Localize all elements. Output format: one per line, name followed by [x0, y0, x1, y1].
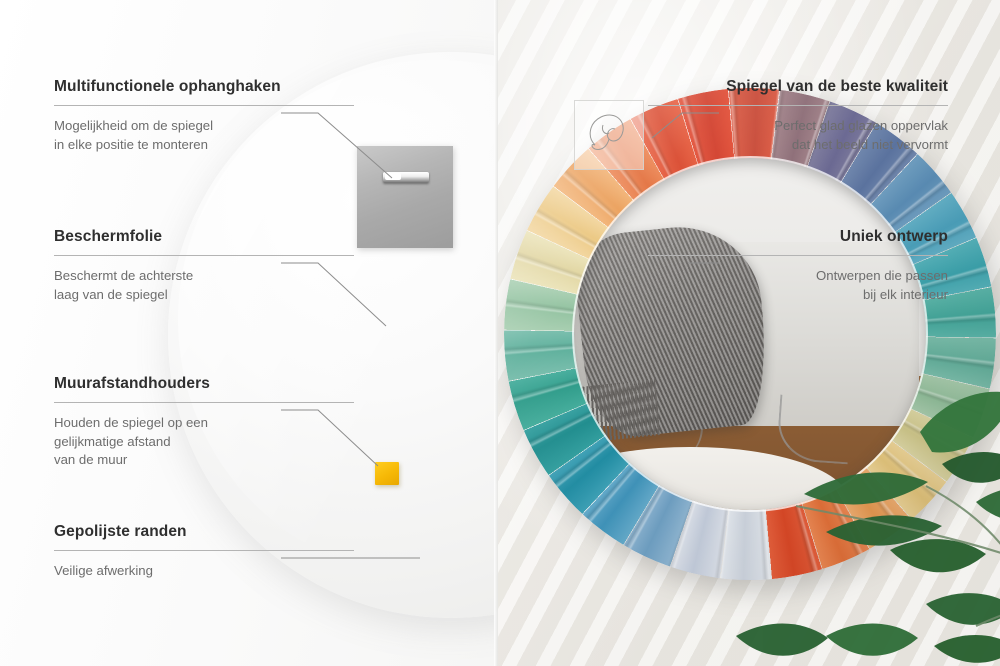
callout-rule — [648, 105, 948, 106]
infographic-root: Multifunctionele ophanghaken Mogelijkhei… — [0, 0, 1000, 666]
callout-title: Spiegel van de beste kwaliteit — [648, 78, 948, 96]
desc-line: bij elk interieur — [863, 287, 948, 302]
callout-kwaliteit: Spiegel van de beste kwaliteit Perfect g… — [648, 78, 948, 154]
callout-muurafstandhouders: Muurafstandhouders Houden de spiegel op … — [54, 375, 354, 470]
callout-gepolijste-randen: Gepolijste randen Veilige afwerking — [54, 523, 354, 581]
callout-title: Beschermfolie — [54, 228, 354, 246]
callout-description: Beschermt de achterste laag van de spieg… — [54, 267, 354, 304]
desc-line: Houden de spiegel op een — [54, 415, 208, 430]
desc-line: gelijkmatige afstand — [54, 434, 171, 449]
desc-line: in elke positie te monteren — [54, 137, 208, 152]
callout-rule — [54, 402, 354, 403]
panel-divider — [494, 0, 498, 666]
callout-description: Houden de spiegel op een gelijkmatige af… — [54, 414, 354, 470]
eucalyptus-foliage — [676, 336, 1000, 666]
callout-title: Gepolijste randen — [54, 523, 354, 541]
hook-slot-icon — [383, 172, 429, 183]
reflected-throw-fringe — [578, 379, 661, 443]
callout-description: Veilige afwerking — [54, 562, 354, 581]
desc-line: van de muur — [54, 452, 127, 467]
hanging-hook-plate — [357, 146, 453, 248]
wall-artwork-frame — [574, 100, 644, 170]
callout-rule — [54, 105, 354, 106]
desc-line: Beschermt de achterste — [54, 268, 193, 283]
wall-spacer — [375, 462, 399, 485]
callout-beschermfolie: Beschermfolie Beschermt de achterste laa… — [54, 228, 354, 304]
desc-line: dat het beeld niet vervormt — [792, 137, 948, 152]
callout-description: Ontwerpen die passen bij elk interieur — [648, 267, 948, 304]
callout-title: Uniek ontwerp — [648, 228, 948, 246]
desc-line: Veilige afwerking — [54, 563, 153, 578]
line-art-drawing-icon — [575, 101, 641, 167]
callout-description: Perfect glad glazen oppervlak dat het be… — [648, 117, 948, 154]
callout-rule — [648, 255, 948, 256]
callout-title: Muurafstandhouders — [54, 375, 354, 393]
callout-rule — [54, 255, 354, 256]
callout-title: Multifunctionele ophanghaken — [54, 78, 354, 96]
desc-line: Ontwerpen die passen — [816, 268, 948, 283]
desc-line: laag van de spiegel — [54, 287, 168, 302]
desc-line: Perfect glad glazen oppervlak — [774, 118, 948, 133]
callout-description: Mogelijkheid om de spiegel in elke posit… — [54, 117, 354, 154]
callout-rule — [54, 550, 354, 551]
callout-ontwerp: Uniek ontwerp Ontwerpen die passen bij e… — [648, 228, 948, 304]
callout-ophanghaken: Multifunctionele ophanghaken Mogelijkhei… — [54, 78, 354, 154]
desc-line: Mogelijkheid om de spiegel — [54, 118, 213, 133]
